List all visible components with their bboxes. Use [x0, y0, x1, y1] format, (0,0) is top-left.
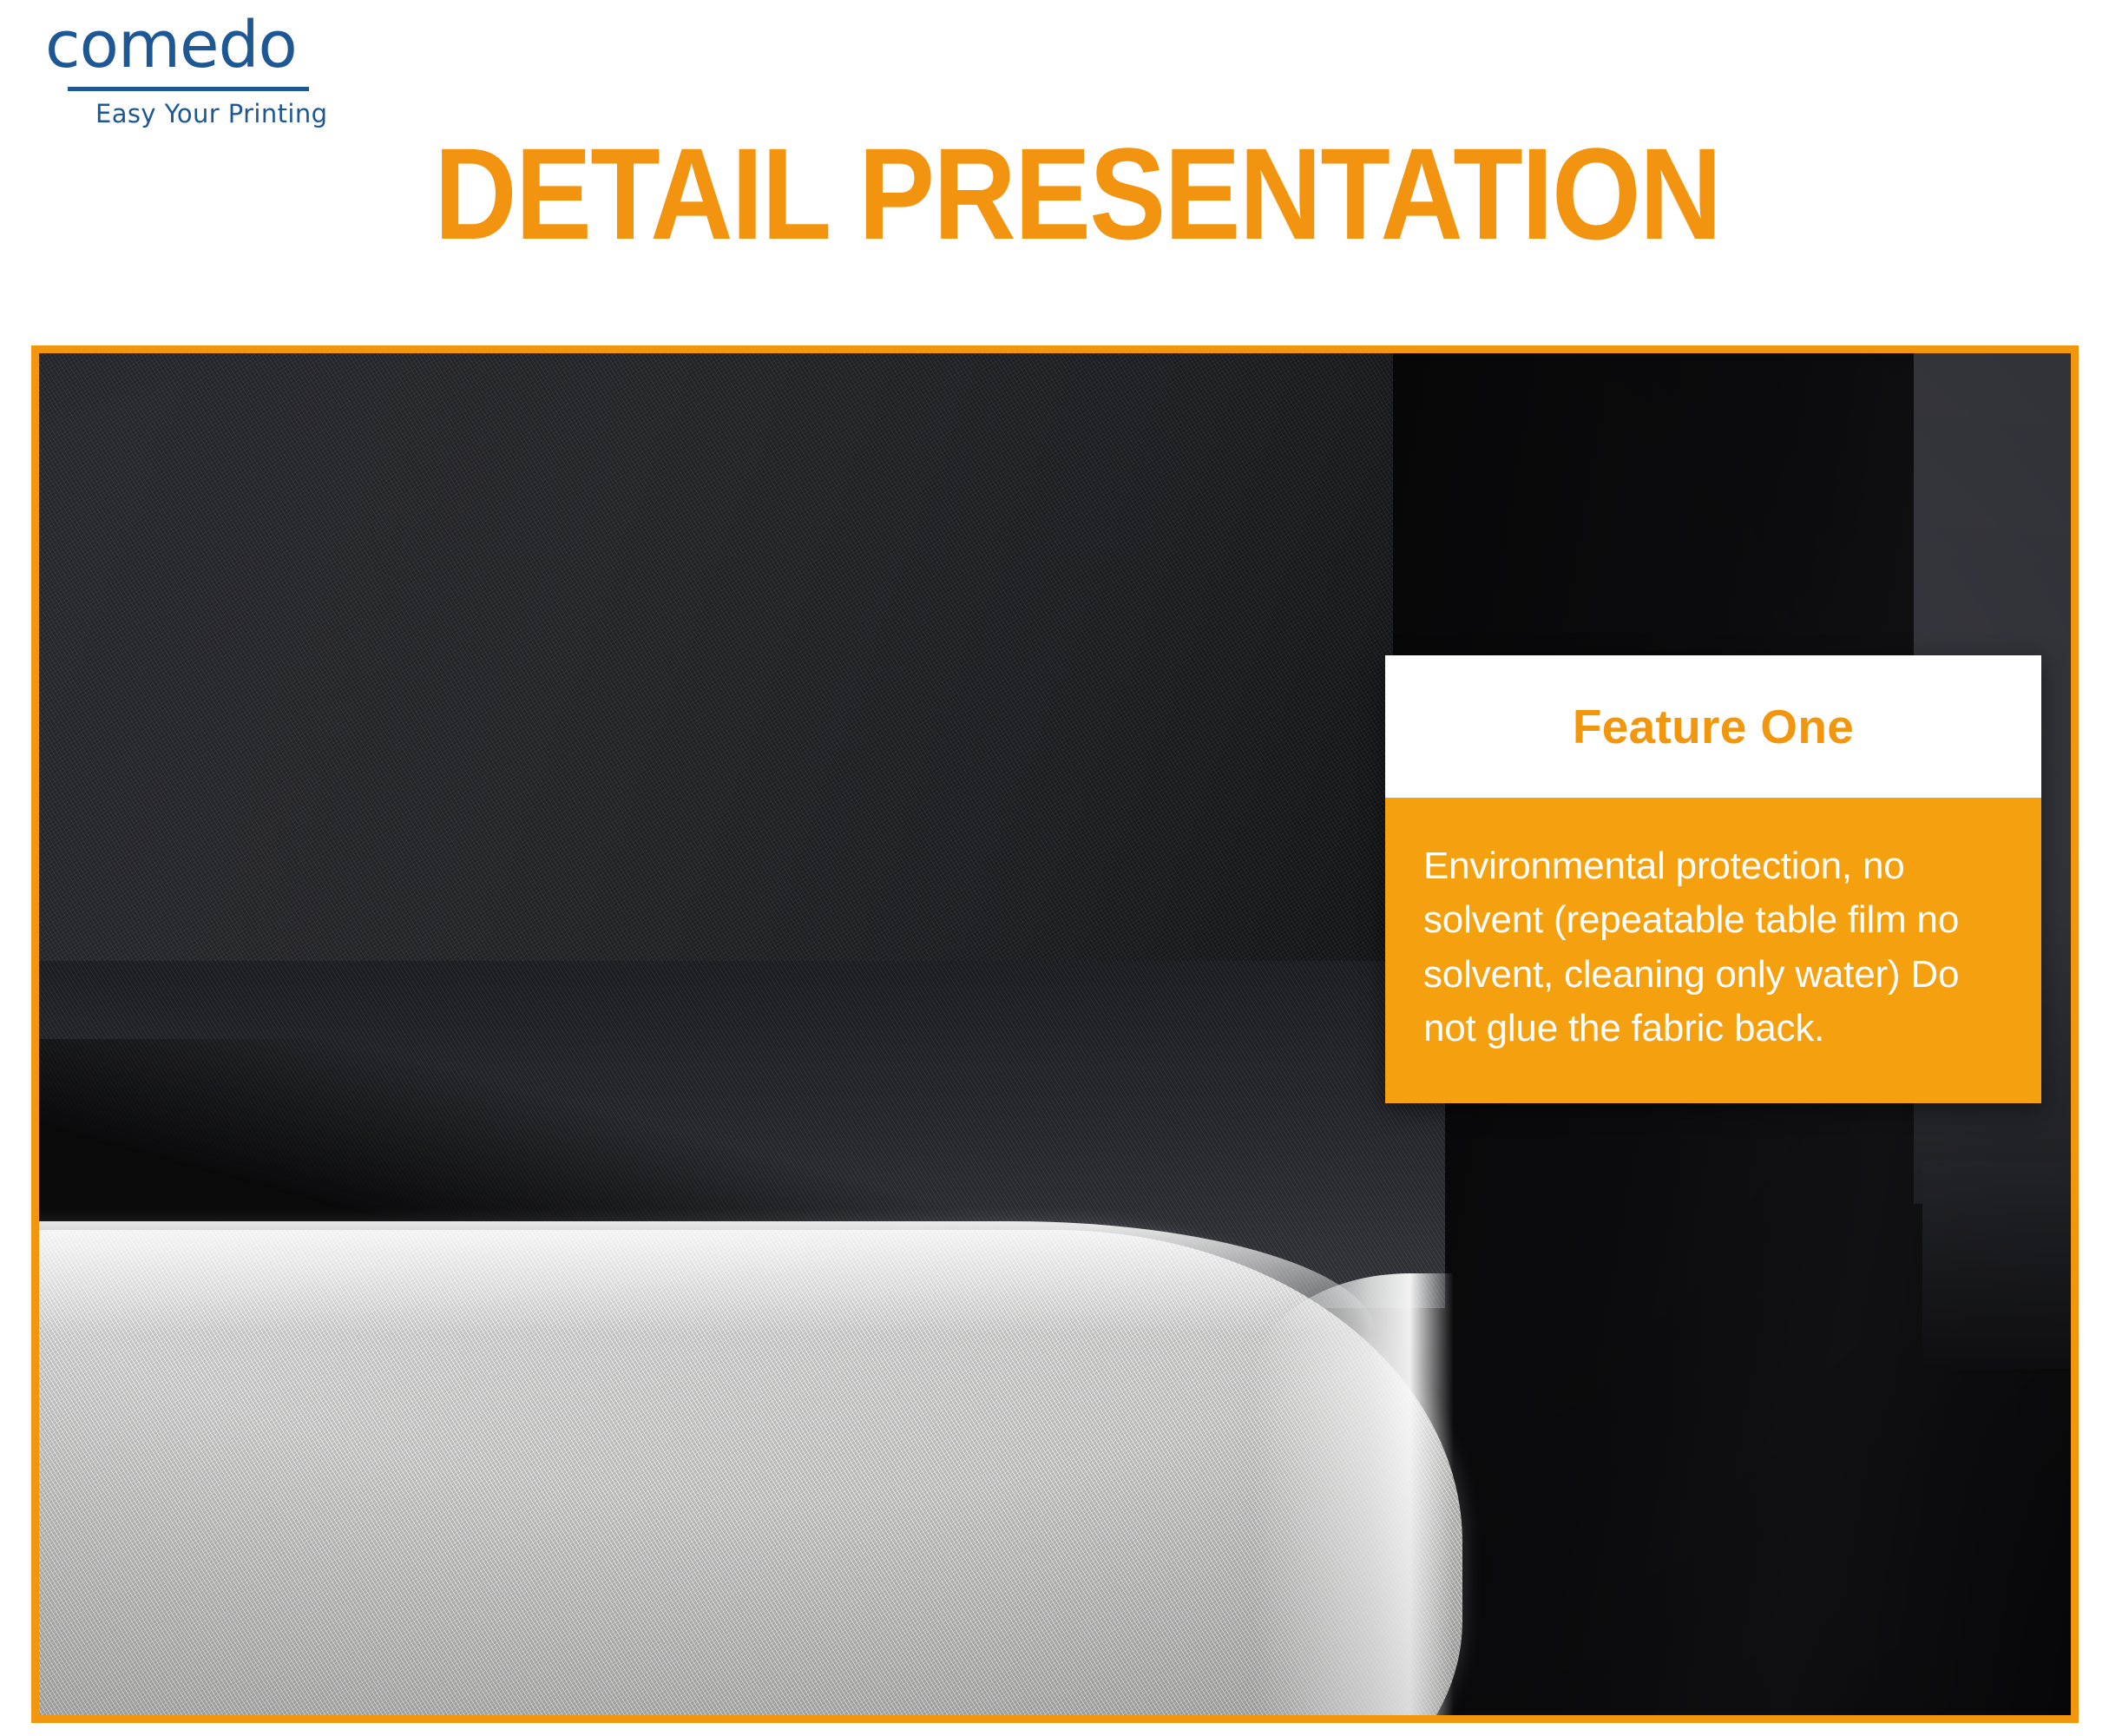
product-photo-frame: Feature One Environmental protection, no… [31, 345, 2079, 1723]
brand-tagline: Easy Your Printing [95, 99, 358, 128]
feature-callout-card: Feature One Environmental protection, no… [1385, 655, 2041, 1103]
photo-background-lower-band [1922, 1161, 2071, 1369]
brand-divider [68, 87, 309, 91]
feature-card-description: Environmental protection, no solvent (re… [1423, 839, 2005, 1056]
white-film-roll [39, 1230, 1462, 1715]
page-title: DETAIL PRESENTATION [127, 128, 1982, 259]
page-header: comedo Easy Your Printing DETAIL PRESENT… [0, 0, 2109, 347]
brand-logo[interactable]: comedo Easy Your Printing [45, 12, 358, 128]
dark-fabric-sheet [39, 353, 1393, 1039]
brand-name: comedo [45, 12, 358, 80]
feature-card-title: Feature One [1573, 703, 1854, 751]
feature-card-body: Environmental protection, no solvent (re… [1385, 798, 2041, 1103]
feature-card-header: Feature One [1385, 655, 2041, 798]
